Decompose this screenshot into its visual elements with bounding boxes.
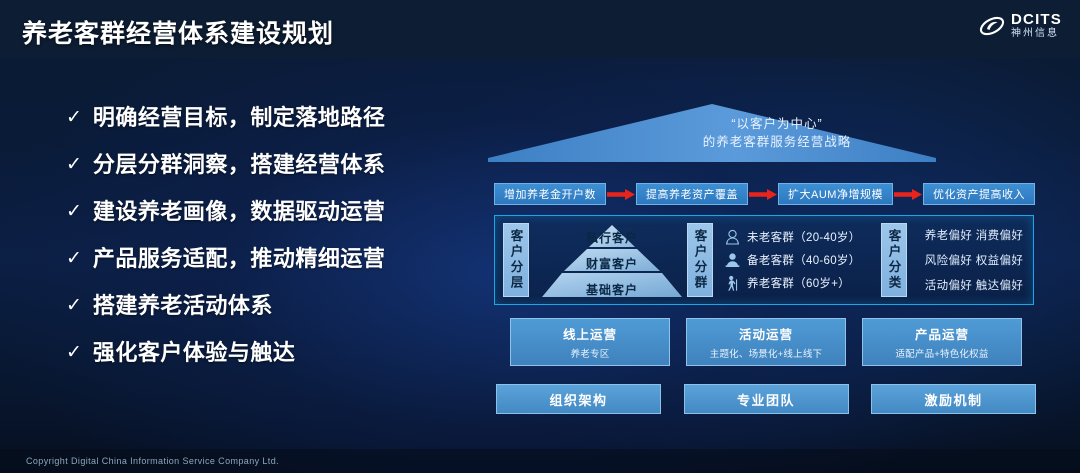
group-label: 未老客群（20-40岁） <box>747 229 861 245</box>
check-icon: ✓ <box>66 339 82 367</box>
page-title: 养老客群经营体系建设规划 <box>22 14 334 50</box>
check-icon: ✓ <box>66 198 82 226</box>
operation-card-subtitle: 适配产品+特色化权益 <box>895 346 988 360</box>
arrow-right-icon <box>893 189 923 200</box>
check-icon: ✓ <box>66 292 82 320</box>
group-label: 备老客群（40-60岁） <box>747 252 861 268</box>
list-item: ✓ 建设养老画像，数据驱动运营 <box>66 198 466 226</box>
list-item-label: 分层分群洞察，搭建经营体系 <box>93 151 386 179</box>
classification-cell: 消费偏好 <box>974 227 1025 243</box>
check-icon: ✓ <box>66 151 82 179</box>
classification-cell: 权益偏好 <box>974 252 1025 268</box>
operation-card[interactable]: 活动运营 主题化、场景化+线上线下 <box>686 318 846 366</box>
tier-level-label: 基础客户 <box>537 281 687 298</box>
operation-card-title: 线上运营 <box>563 324 617 343</box>
list-item-label: 搭建养老活动体系 <box>93 292 273 320</box>
foundation-row: 组织架构 专业团队 激励机制 <box>496 384 1036 414</box>
classification-cell: 养老偏好 <box>923 227 974 243</box>
foundation-box[interactable]: 组织架构 <box>496 384 661 414</box>
tier-level-label: 财富客户 <box>537 255 687 272</box>
list-item: ✓ 强化客户体验与触达 <box>66 339 466 367</box>
operation-card-subtitle: 主题化、场景化+线上线下 <box>710 346 822 360</box>
copyright-text: Copyright Digital China Information Serv… <box>26 456 279 466</box>
customer-segmentation-panel: 客户分层 <box>494 215 1034 305</box>
list-item-label: 强化客户体验与触达 <box>93 339 296 367</box>
classification-grid: 养老偏好 消费偏好 风险偏好 权益偏好 活动偏好 触达偏好 <box>915 223 1025 297</box>
list-item: ✓ 明确经营目标，制定落地路径 <box>66 104 466 132</box>
arrow-right-icon <box>748 189 778 200</box>
operation-card[interactable]: 产品运营 适配产品+特色化权益 <box>862 318 1022 366</box>
operation-card[interactable]: 线上运营 养老专区 <box>510 318 670 366</box>
dcits-swoosh-icon <box>979 13 1005 39</box>
strategy-roof: “以客户为中心” 的养老客群服务经营战略 <box>488 96 936 164</box>
tiering-label: 客户分层 <box>503 223 529 297</box>
logo-brand-cn: 神州信息 <box>1011 29 1062 39</box>
strategy-diagram: “以客户为中心” 的养老客群服务经营战略 增加养老金开户数 提高养老资产覆盖 扩… <box>488 96 1048 426</box>
operation-card-title: 活动运营 <box>739 324 793 343</box>
person-elderly-cane-icon <box>725 275 740 291</box>
company-logo: DCITS 神州信息 <box>979 12 1062 39</box>
slide-header: 养老客群经营体系建设规划 DCITS 神州信息 <box>0 0 1080 58</box>
goal-box[interactable]: 提高养老资产覆盖 <box>636 183 748 205</box>
grouping-label: 客户分群 <box>687 223 713 297</box>
foundation-box[interactable]: 专业团队 <box>684 384 849 414</box>
tier-level-label: 私行客户 <box>537 229 687 246</box>
classification-cell: 风险偏好 <box>923 252 974 268</box>
group-label: 养老客群（60岁+） <box>747 275 850 291</box>
list-item-label: 建设养老画像，数据驱动运营 <box>93 198 386 226</box>
roof-text: “以客户为中心” 的养老客群服务经营战略 <box>488 115 936 151</box>
list-item: 未老客群（20-40岁） <box>725 229 881 245</box>
person-young-icon <box>725 229 740 245</box>
roof-line-2: 的养老客群服务经营战略 <box>618 133 936 151</box>
list-item-label: 产品服务适配，推动精细运营 <box>93 245 386 273</box>
logo-wordmark: DCITS 神州信息 <box>1011 12 1062 39</box>
tiering-pyramid: 私行客户 财富客户 基础客户 <box>537 223 687 297</box>
roof-line-1: “以客户为中心” <box>618 115 936 133</box>
logo-brand-en: DCITS <box>1011 12 1062 27</box>
classification-cell: 触达偏好 <box>974 277 1025 293</box>
arrow-right-icon <box>606 189 636 200</box>
list-item: ✓ 分层分群洞察，搭建经营体系 <box>66 151 466 179</box>
classification-cell: 活动偏好 <box>923 277 974 293</box>
list-item: ✓ 搭建养老活动体系 <box>66 292 466 320</box>
operation-cards: 线上运营 养老专区 活动运营 主题化、场景化+线上线下 产品运营 适配产品+特色… <box>510 318 1022 366</box>
check-icon: ✓ <box>66 245 82 273</box>
goal-box[interactable]: 扩大AUM净增规模 <box>778 183 893 205</box>
classification-label: 客户分类 <box>881 223 907 297</box>
operation-card-title: 产品运营 <box>915 324 969 343</box>
list-item: 养老客群（60岁+） <box>725 275 881 291</box>
list-item-label: 明确经营目标，制定落地路径 <box>93 104 386 132</box>
key-points-list: ✓ 明确经营目标，制定落地路径 ✓ 分层分群洞察，搭建经营体系 ✓ 建设养老画像… <box>66 104 466 386</box>
grouping-list: 未老客群（20-40岁） 备老客群（40-60岁） <box>721 223 881 297</box>
list-item: 备老客群（40-60岁） <box>725 252 881 268</box>
slide-footer: Copyright Digital China Information Serv… <box>0 449 1080 473</box>
goal-box[interactable]: 增加养老金开户数 <box>494 183 606 205</box>
check-icon: ✓ <box>66 104 82 132</box>
foundation-box[interactable]: 激励机制 <box>871 384 1036 414</box>
slide-canvas: 养老客群经营体系建设规划 DCITS 神州信息 ✓ 明确经营目标，制定落地路径 … <box>0 0 1080 473</box>
goal-box[interactable]: 优化资产提高收入 <box>923 183 1035 205</box>
person-group-icon <box>725 252 740 268</box>
operation-card-subtitle: 养老专区 <box>571 346 610 360</box>
list-item: ✓ 产品服务适配，推动精细运营 <box>66 245 466 273</box>
goal-chain: 增加养老金开户数 提高养老资产覆盖 扩大AUM净增规模 优化资产提高收入 <box>494 182 1034 206</box>
